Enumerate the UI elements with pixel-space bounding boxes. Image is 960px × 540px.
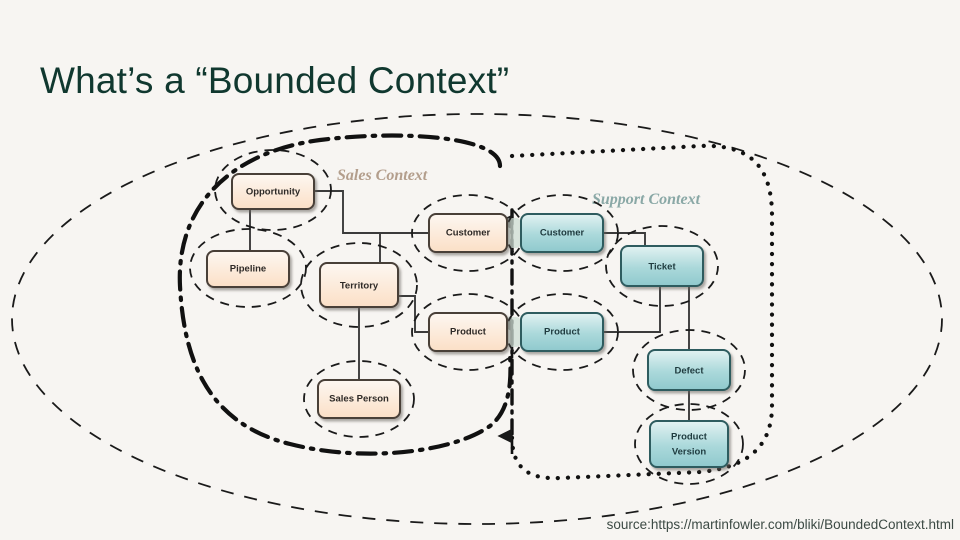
node-label-opportunity: Opportunity (246, 187, 301, 198)
node-customer-support[interactable]: Customer (521, 214, 603, 252)
edge-territory-product (398, 296, 429, 332)
edge-customer-ticket (603, 233, 645, 246)
edge-opportunity-customer (314, 191, 429, 233)
node-ticket[interactable]: Ticket (621, 246, 703, 286)
node-label-customer-sales: Customer (446, 228, 491, 239)
node-territory[interactable]: Territory (320, 263, 398, 307)
node-opportunity[interactable]: Opportunity (232, 174, 314, 209)
source-attribution: source:https://martinfowler.com/bliki/Bo… (607, 517, 954, 532)
node-label-territory: Territory (340, 281, 379, 292)
node-pipeline[interactable]: Pipeline (207, 251, 289, 287)
node-customer-sales[interactable]: Customer (429, 214, 507, 252)
node-product-sales[interactable]: Product (429, 313, 507, 351)
node-label-product-sales: Product (450, 327, 487, 338)
node-sales-person[interactable]: Sales Person (318, 380, 400, 418)
entity-nodes: Opportunity Pipeline Territory Sales Per… (207, 174, 730, 467)
node-product-version[interactable]: Product Version (650, 421, 728, 467)
slide-canvas: What’s a “Bounded Context” (0, 0, 960, 540)
edge-product-ticket (603, 286, 660, 332)
bounded-context-diagram: Sales Context Support Context (0, 106, 960, 540)
page-title: What’s a “Bounded Context” (40, 60, 509, 102)
node-label-product-version-line2: Version (672, 447, 707, 458)
node-label-pipeline: Pipeline (230, 264, 266, 275)
node-label-customer-support: Customer (540, 228, 585, 239)
sales-context-label: Sales Context (337, 167, 428, 184)
support-context-label: Support Context (592, 191, 701, 208)
node-label-product-support: Product (544, 327, 581, 338)
node-label-sales-person: Sales Person (329, 394, 389, 405)
node-label-ticket: Ticket (648, 262, 676, 273)
node-label-defect: Defect (674, 366, 704, 377)
node-product-support[interactable]: Product (521, 313, 603, 351)
node-label-product-version-line1: Product (671, 432, 708, 443)
node-defect[interactable]: Defect (648, 350, 730, 390)
